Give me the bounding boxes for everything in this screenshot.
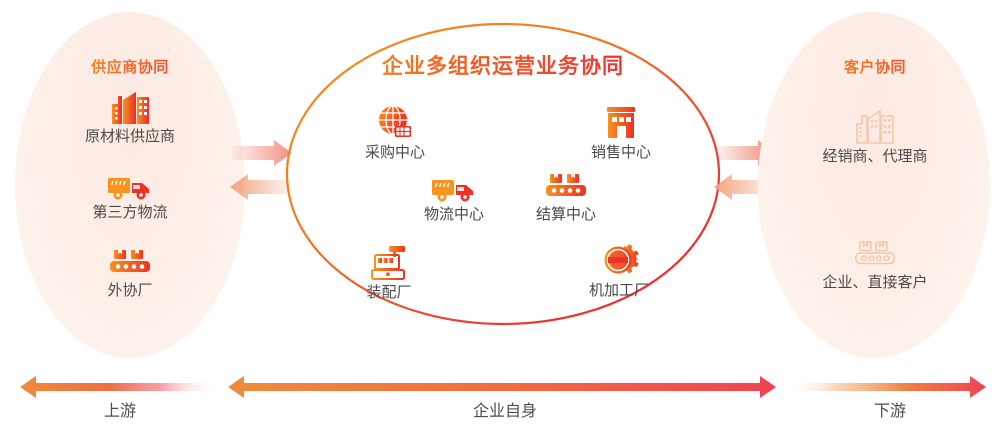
- node-label: 销售中心: [566, 144, 676, 162]
- node-assembly-plant[interactable]: 装配厂: [336, 244, 442, 302]
- globe-basket-icon: [340, 104, 450, 142]
- node-label: 物流中心: [400, 206, 508, 224]
- axis-label-enterprise: 企业自身: [440, 397, 570, 421]
- node-label: 经销商、代理商: [804, 148, 946, 166]
- node-procurement-center[interactable]: 采购中心: [340, 104, 450, 162]
- store-building-icon: [566, 104, 676, 142]
- factory-buildings-icon: [70, 88, 190, 126]
- axis-arrow-downstream: [788, 375, 988, 399]
- node-label: 装配厂: [336, 284, 442, 302]
- conveyor-belt-icon: [512, 172, 620, 204]
- delivery-truck-icon: [400, 172, 508, 204]
- assembly-machine-icon: [336, 244, 442, 282]
- node-raw-material-supplier[interactable]: 原材料供应商: [70, 88, 190, 146]
- node-label: 原材料供应商: [70, 128, 190, 146]
- node-machining-plant[interactable]: 机加工厂: [564, 240, 674, 300]
- node-third-party-logistics[interactable]: 第三方物流: [70, 170, 190, 222]
- node-settlement-center[interactable]: 结算中心: [512, 172, 620, 224]
- conveyor-belt-icon: [70, 248, 190, 280]
- node-sales-center[interactable]: 销售中心: [566, 104, 676, 162]
- node-enterprise-direct-customer[interactable]: 企业、直接客户: [804, 240, 946, 292]
- conveyor-belt-outline-icon: [804, 240, 946, 272]
- node-label: 第三方物流: [70, 204, 190, 222]
- axis-label-upstream: 上游: [60, 397, 180, 421]
- connector-center-to-left: [228, 174, 290, 200]
- axis-arrow-upstream: [18, 375, 218, 399]
- office-buildings-outline-icon: [804, 106, 946, 146]
- node-distributor-agent[interactable]: 经销商、代理商: [804, 106, 946, 166]
- axis-label-downstream: 下游: [830, 397, 950, 421]
- node-label: 机加工厂: [564, 282, 674, 300]
- node-label: 企业、直接客户: [804, 274, 946, 292]
- diagram-canvas: 供应商协同 原: [0, 0, 1001, 446]
- node-outsourced-factory[interactable]: 外协厂: [70, 248, 190, 300]
- axis-arrow-enterprise: [228, 375, 776, 399]
- node-logistics-center[interactable]: 物流中心: [400, 172, 508, 224]
- gear-machining-icon: [564, 240, 674, 280]
- center-group-title: 企业多组织运营业务协同: [325, 50, 681, 80]
- supplier-group-title: 供应商协同: [55, 56, 205, 77]
- delivery-truck-icon: [70, 170, 190, 202]
- customer-group-title: 客户协同: [800, 56, 950, 77]
- node-label: 采购中心: [340, 144, 450, 162]
- node-label: 外协厂: [70, 282, 190, 300]
- node-label: 结算中心: [512, 206, 620, 224]
